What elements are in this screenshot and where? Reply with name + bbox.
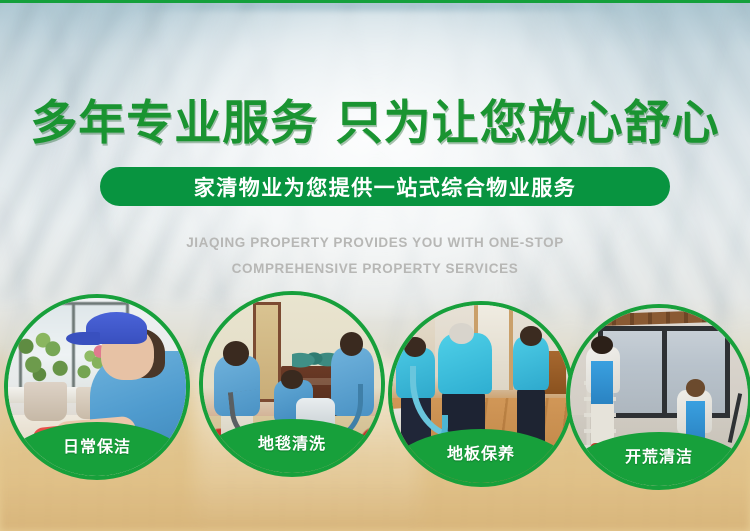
- english-subtitle: JIAQING PROPERTY PROVIDES YOU WITH ONE-S…: [0, 230, 750, 282]
- service-circle-post-construction-cleaning[interactable]: 开荒清洁: [566, 304, 750, 490]
- tagline-text: 家清物业为您提供一站式综合物业服务: [194, 172, 577, 202]
- service-circle-daily-cleaning[interactable]: 日常保洁: [4, 294, 190, 480]
- service-circle-floor-maintenance[interactable]: 地板保养: [388, 301, 574, 487]
- service-label-floor-maintenance: 地板保养: [447, 440, 515, 464]
- service-label-post-construction-cleaning: 开荒清洁: [625, 443, 693, 467]
- english-subtitle-line-1: JIAQING PROPERTY PROVIDES YOU WITH ONE-S…: [0, 230, 750, 256]
- top-green-rule: [0, 0, 750, 3]
- service-label-carpet-cleaning: 地毯清洗: [258, 430, 326, 454]
- page-title: 多年专业服务 只为让您放心舒心: [0, 84, 750, 153]
- service-label-daily-cleaning: 日常保洁: [63, 433, 131, 457]
- service-circle-carpet-cleaning[interactable]: 地毯清洗: [199, 291, 385, 477]
- english-subtitle-line-2: COMPREHENSIVE PROPERTY SERVICES: [0, 256, 750, 282]
- promo-banner: 多年专业服务 只为让您放心舒心 家清物业为您提供一站式综合物业服务 JIAQIN…: [0, 0, 750, 531]
- tagline-pill: 家清物业为您提供一站式综合物业服务: [100, 167, 670, 206]
